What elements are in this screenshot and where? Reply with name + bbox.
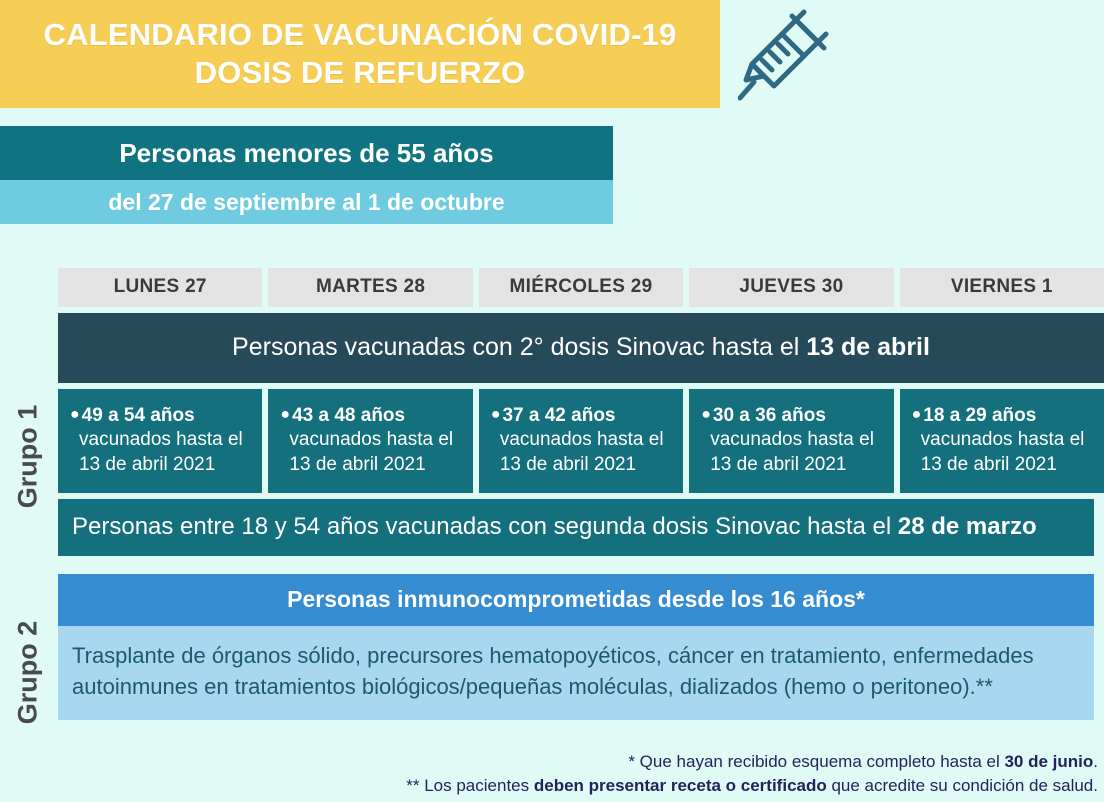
group1-summary-date: 28 de marzo (898, 513, 1037, 540)
footnote-two-suffix: que acredite su condición de salud. (827, 776, 1098, 795)
day-header-tuesday: MARTES 28 (268, 268, 472, 307)
age-cell-wednesday: ●37 a 42 años vacunados hasta el 13 de a… (479, 389, 683, 493)
age-cell-friday: ●18 a 29 años vacunados hasta el 13 de a… (900, 389, 1104, 493)
age-cell-monday: ●49 a 54 años vacunados hasta el 13 de a… (58, 389, 262, 493)
audience-bands: Personas menores de 55 años del 27 de se… (0, 126, 1104, 224)
day-header-row: LUNES 27 MARTES 28 MIÉRCOLES 29 JUEVES 3… (58, 268, 1104, 307)
group2-section: Personas inmunocomprometidas desde los 1… (58, 574, 1094, 720)
audience-primary-band: Personas menores de 55 años (0, 126, 613, 180)
age-cell-thursday: ●30 a 36 años vacunados hasta el 13 de a… (689, 389, 893, 493)
calendar: LUNES 27 MARTES 28 MIÉRCOLES 29 JUEVES 3… (58, 268, 1104, 720)
group-label-1: Grupo 1 (0, 386, 56, 526)
age-detail-thursday: vacunados hasta el 13 de abril 2021 (701, 428, 881, 477)
day-header-wednesday: MIÉRCOLES 29 (479, 268, 683, 307)
footnote-two-bold: deben presentar receta o certificado (534, 776, 827, 795)
age-range-friday: 18 a 29 años (923, 405, 1036, 426)
page-header: CALENDARIO DE VACUNACIÓN COVID-19 DOSIS … (0, 0, 1104, 108)
age-detail-wednesday: vacunados hasta el 13 de abril 2021 (491, 428, 671, 477)
age-detail-monday: vacunados hasta el 13 de abril 2021 (70, 428, 250, 477)
age-range-thursday: 30 a 36 años (713, 405, 826, 426)
age-range-wednesday: 37 a 42 años (502, 405, 615, 426)
group2-body-text: Trasplante de órganos sólido, precursore… (58, 626, 1094, 720)
age-range-tuesday: 43 a 48 años (292, 405, 405, 426)
footnote-two: ** Los pacientes deben presentar receta … (406, 774, 1098, 798)
group-label-2: Grupo 2 (0, 592, 56, 752)
group2-title-bar: Personas inmunocomprometidas desde los 1… (58, 574, 1094, 626)
group1-summary-text: Personas entre 18 y 54 años vacunadas co… (72, 513, 898, 540)
title-banner: CALENDARIO DE VACUNACIÓN COVID-19 DOSIS … (0, 0, 720, 108)
syringe-icon (738, 4, 834, 104)
sinovac-notice-date: 13 de abril (806, 333, 930, 361)
group1-summary-bar: Personas entre 18 y 54 años vacunadas co… (58, 499, 1094, 556)
page-title-line2: DOSIS DE REFUERZO (195, 54, 526, 92)
day-header-friday: VIERNES 1 (900, 268, 1104, 307)
footnote-one-prefix: * Que hayan recibido esquema completo ha… (628, 752, 1004, 771)
footnote-one-bold: 30 de junio (1004, 752, 1093, 771)
page-title-line1: CALENDARIO DE VACUNACIÓN COVID-19 (44, 16, 677, 54)
age-group-row: ●49 a 54 años vacunados hasta el 13 de a… (58, 389, 1104, 493)
bullet-icon: ● (701, 406, 711, 423)
group-label-1-text: Grupo 1 (13, 404, 44, 508)
footnote-one: * Que hayan recibido esquema completo ha… (406, 750, 1098, 774)
sinovac-notice-bar: Personas vacunadas con 2° dosis Sinovac … (58, 313, 1104, 383)
footnote-two-prefix: ** Los pacientes (406, 776, 534, 795)
age-detail-tuesday: vacunados hasta el 13 de abril 2021 (280, 428, 460, 477)
age-cell-tuesday: ●43 a 48 años vacunados hasta el 13 de a… (268, 389, 472, 493)
day-header-thursday: JUEVES 30 (689, 268, 893, 307)
syringe-icon-container (720, 0, 1104, 108)
age-detail-friday: vacunados hasta el 13 de abril 2021 (912, 428, 1092, 477)
sinovac-notice-text: Personas vacunadas con 2° dosis Sinovac … (232, 333, 806, 361)
bullet-icon: ● (280, 406, 290, 423)
footnote-one-suffix: . (1093, 752, 1098, 771)
bullet-icon: ● (912, 406, 922, 423)
bullet-icon: ● (491, 406, 501, 423)
day-header-monday: LUNES 27 (58, 268, 262, 307)
bullet-icon: ● (70, 406, 80, 423)
footnotes: * Que hayan recibido esquema completo ha… (406, 750, 1098, 798)
age-range-monday: 49 a 54 años (82, 405, 195, 426)
group-label-2-text: Grupo 2 (13, 620, 44, 724)
audience-date-band: del 27 de septiembre al 1 de octubre (0, 180, 613, 224)
